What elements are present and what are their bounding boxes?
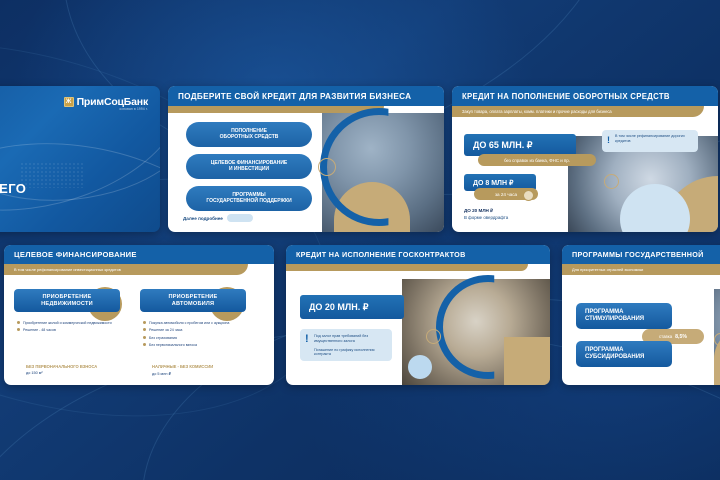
amount-20mln-value: ДО 20 МЛН ₽ [464,208,508,215]
bullet-dot-icon [17,321,20,324]
amount-8mln-note-text: за 24 часа [495,192,517,197]
amount-20mln-contracts-value: ДО 20 МЛН. ₽ [309,302,368,313]
bullet-item: Без страхования [143,336,255,340]
cover-dot-pattern [20,162,84,188]
footer-car: НАЛИЧНЫЕ - БЕЗ КОМИССИИ до 5 млн ₽ [152,364,213,376]
option-1-line2: ОБОРОТНЫХ СРЕДСТВ [220,135,279,141]
cover-title: НИЯ И СРЕДНЕГО [0,163,26,198]
footer-note-car: до 5 млн ₽ [152,371,213,376]
bullet-text: Без страхования [149,336,177,340]
amount-65mln-note: без справок из банка, ФНС и пр. [478,154,596,166]
slide3-subheader: Закуп товара, оплата зарплаты, комм. пла… [452,106,704,117]
bank-logo-tagline: основан в 1994 г. [119,107,148,111]
bullet-list-real-estate: Приобретение жилой и коммерческой недвиж… [17,321,127,333]
category-2-line2: АВТОМОБИЛЯ [169,301,218,308]
background-swirl-5 [0,0,378,480]
slide-target-financing[interactable]: ЦЕЛЕВОЕ ФИНАНСИРОВАНИЕ В том числе рефин… [4,245,274,385]
bullet-item: Приобретение жилой и коммерческой недвиж… [17,321,127,325]
amount-20mln-block: ДО 20 МЛН ₽ В форме овердрафта [464,208,508,221]
category-button-car[interactable]: ПРИОБРЕТЕНИЕ АВТОМОБИЛЯ [140,289,246,312]
clock-icon [523,190,534,201]
slide3-ring-decor [604,174,619,189]
footer-title-real-estate: БЕЗ ПЕРВОНАЧАЛЬНОГО ВЗНОСА [26,364,97,369]
category-2-line1: ПРИОБРЕТЕНИЕ [169,294,218,301]
amount-8mln-note: за 24 часа [474,188,538,200]
rate-value: 8,5% [675,334,687,340]
slide2-gold-band [168,106,384,113]
option-button-target-financing[interactable]: ЦЕЛЕВОЕ ФИНАНСИРОВАНИЕ И ИНВЕСТИЦИИ [186,154,312,179]
slide5-blue-dot [408,355,432,379]
program-1-line2: СТИМУЛИРОВАНИЯ [585,316,644,323]
option-2-line2: И ИНВЕСТИЦИИ [211,167,288,173]
bullet-item: Решение за 24 часа [143,328,255,332]
slide5-header: КРЕДИТ НА ИСПОЛНЕНИЕ ГОСКОНТРАКТОВ [286,245,550,264]
program-1-line1: ПРОГРАММА [585,309,644,316]
slide-choose-credit[interactable]: ПОДБЕРИТЕ СВОЙ КРЕДИТ ДЛЯ РАЗВИТИЯ БИЗНЕ… [168,86,444,232]
bullet-text: Приобретение жилой и коммерческой недвиж… [23,321,112,325]
slide4-header: ЦЕЛЕВОЕ ФИНАНСИРОВАНИЕ [4,245,274,264]
slide6-header: ПРОГРАММЫ ГОСУДАРСТВЕННОЙ [562,245,720,264]
footer-title-car: НАЛИЧНЫЕ - БЕЗ КОМИССИИ [152,364,213,369]
bullet-dot-icon [143,328,146,331]
slide-cover[interactable]: Ж ПримСоцБанк основан в 1994 г. НИЯ И СР… [0,86,160,232]
bullet-dot-icon [143,343,146,346]
slide5-ring-decor [426,329,441,344]
contracts-callout-line1: Под залог прав требований без имуществен… [314,334,388,344]
footer-real-estate: БЕЗ ПЕРВОНАЧАЛЬНОГО ВЗНОСА до 150 м² [26,364,97,375]
refinance-callout: ! В том числе рефинансирование дорогих к… [602,130,698,152]
bullet-item: Без первоначального взноса [143,343,255,347]
bullet-item: Решение - 48 часов [17,328,127,332]
cover-title-line1: НИЯ [0,163,26,181]
bullet-dot-icon [143,321,146,324]
bullet-text: Покупка автомобиля с пробегом или с аукц… [149,321,229,325]
rate-label: ставка [659,334,672,339]
program-2-line2: СУБСИДИРОВАНИЯ [585,354,644,361]
bullet-item: Покупка автомобиля с пробегом или с аукц… [143,321,255,325]
amount-8mln-value: ДО 8 МЛН ₽ [473,179,513,187]
slide2-header: ПОДБЕРИТЕ СВОЙ КРЕДИТ ДЛЯ РАЗВИТИЯ БИЗНЕ… [168,86,444,106]
footer-note-real-estate: до 150 м² [26,371,97,375]
slide-working-capital[interactable]: КРЕДИТ НА ПОПОЛНЕНИЕ ОБОРОТНЫХ СРЕДСТВ З… [452,86,718,232]
slide5-gold-band [286,264,528,271]
amount-badge-65mln: ДО 65 МЛН. ₽ [464,134,576,156]
slide6-subheader: Для приоритетных отраслей экономики [562,264,720,275]
presentation-canvas: Ж ПримСоцБанк основан в 1994 г. НИЯ И СР… [0,0,720,480]
category-1-line1: ПРИОБРЕТЕНИЕ [41,294,93,301]
more-details-label: Далее подробнее [183,216,223,221]
bank-logo-mark: Ж [64,97,74,107]
more-details-swatch [227,214,253,222]
option-button-gov-support[interactable]: ПРОГРАММЫ ГОСУДАРСТВЕННОЙ ПОДДЕРЖКИ [186,186,312,211]
program-button-subsidy[interactable]: ПРОГРАММА СУБСИДИРОВАНИЯ [576,341,672,367]
slide3-header: КРЕДИТ НА ПОПОЛНЕНИЕ ОБОРОТНЫХ СРЕДСТВ [452,86,718,106]
exclamation-icon: ! [607,134,610,146]
slide4-subheader: В том числе рефинансирование инвестицион… [4,264,248,275]
exclamation-icon: ! [305,332,309,346]
option-3-line2: ГОСУДАРСТВЕННОЙ ПОДДЕРЖКИ [206,199,291,205]
bullet-text: Решение за 24 часа [149,328,182,332]
cover-title-line2: И СРЕДНЕГО [0,180,26,198]
bullet-text: Решение - 48 часов [23,328,56,332]
category-button-real-estate[interactable]: ПРИОБРЕТЕНИЕ НЕДВИЖИМОСТИ [14,289,120,312]
contracts-callout: ! Под залог прав требований без имуществ… [300,329,392,361]
slide-gov-programs[interactable]: ПРОГРАММЫ ГОСУДАРСТВЕННОЙ Для приоритетн… [562,245,720,385]
refinance-callout-text: В том числе рефинансирование дорогих кре… [615,134,685,143]
slide5-tan-shape [504,337,550,385]
more-details-link[interactable]: Далее подробнее [183,214,253,222]
amount-20mln-note: В форме овердрафта [464,215,508,221]
amount-65mln-value: ДО 65 МЛН. ₽ [473,140,532,151]
slide6-ring-decor [714,333,720,346]
program-button-stimulation[interactable]: ПРОГРАММА СТИМУЛИРОВАНИЯ [576,303,672,329]
slide-gov-contracts[interactable]: КРЕДИТ НА ИСПОЛНЕНИЕ ГОСКОНТРАКТОВ ДО 20… [286,245,550,385]
bullet-text: Без первоначального взноса [149,343,197,347]
amount-badge-20mln: ДО 20 МЛН. ₽ [300,295,404,319]
program-2-line1: ПРОГРАММА [585,347,644,354]
slide2-ring-decor [318,158,336,176]
category-1-line2: НЕДВИЖИМОСТИ [41,301,93,308]
contracts-callout-line2: Погашение по графику исполнения контракт… [314,348,388,358]
bullet-list-car: Покупка автомобиля с пробегом или с аукц… [143,321,255,348]
bullet-dot-icon [143,336,146,339]
bullet-dot-icon [17,328,20,331]
option-button-working-capital[interactable]: ПОПОЛНЕНИЕ ОБОРОТНЫХ СРЕДСТВ [186,122,312,147]
